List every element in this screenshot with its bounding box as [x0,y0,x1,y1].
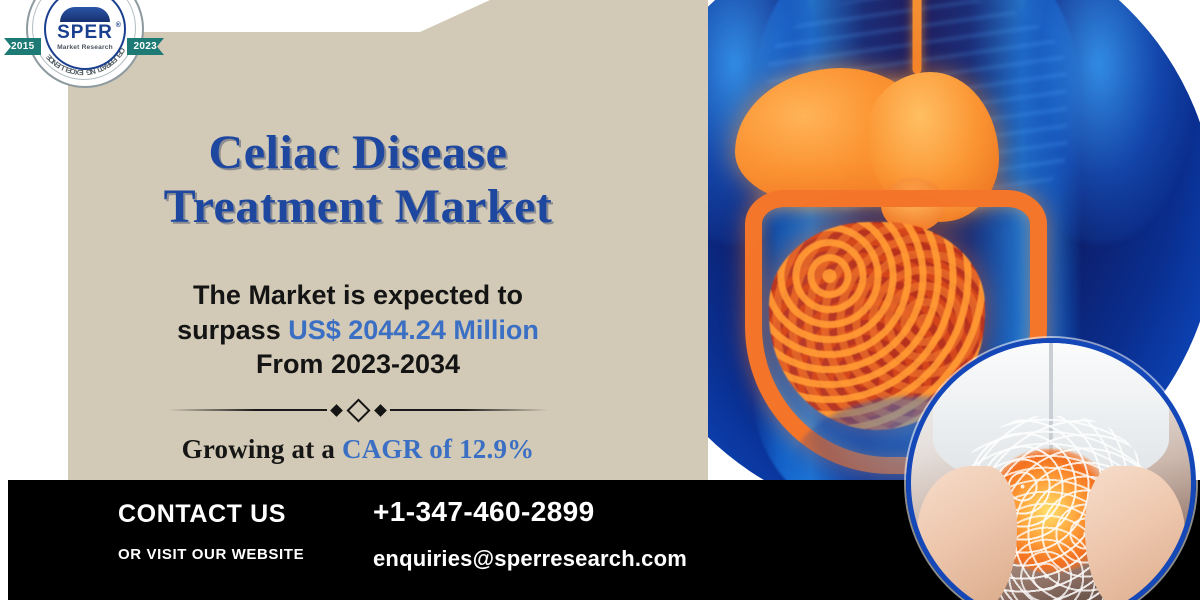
contact-email[interactable]: enquiries@sperresearch.com [373,548,687,570]
subtitle-line-1: The Market is expected to [68,278,648,313]
logo-brand-name: SPER [57,22,113,43]
logo-wordmark: SPER® [57,23,113,42]
registered-mark-icon: ® [116,22,122,29]
abdomen-pain-image [906,338,1196,600]
cagr-prefix: Growing at a [182,434,342,464]
sper-logo: EIGHTH ANNIVERSARY CELEBRATING EXCELLENC… [8,0,158,90]
diamond-outline-icon [346,398,370,422]
page-title: Celiac Disease Treatment Market [68,126,648,234]
logo-tagline: Market Research [57,44,113,51]
infographic-banner: EIGHTH ANNIVERSARY CELEBRATING EXCELLENC… [0,0,1200,600]
diamond-icon [330,404,343,417]
divider-line-left [168,409,327,411]
content-panel [68,0,708,498]
logo-year-from: 2015 [4,38,41,55]
divider-line-right [390,409,549,411]
visit-website-label: OR VISIT OUR WEBSITE [118,547,304,562]
market-value-highlight: US$ 2044.24 Million [288,315,539,345]
cagr-highlight: CAGR of 12.9% [342,434,534,464]
contact-details: +1-347-460-2899 enquiries@sperresearch.c… [373,498,687,570]
logo-arc-graphic [60,7,110,22]
subtitle-surpass-label: surpass [177,315,288,345]
subtitle-line-2: surpass US$ 2044.24 Million [68,313,648,348]
hand-left-shape [917,466,1018,600]
contact-us-label: CONTACT US [118,502,304,527]
market-value-statement: The Market is expected to surpass US$ 20… [68,278,648,382]
hand-right-shape [1085,466,1186,600]
title-line-1: Celiac Disease [68,126,648,180]
title-line-2: Treatment Market [68,180,648,234]
cagr-statement: Growing at a CAGR of 12.9% [68,434,648,465]
diamond-icon [374,404,387,417]
contact-phone[interactable]: +1-347-460-2899 [373,498,687,526]
ornamental-divider [168,398,548,422]
esophagus-shape [913,0,922,74]
contact-labels: CONTACT US OR VISIT OUR WEBSITE [118,502,304,562]
subtitle-line-3: From 2023-2034 [68,347,648,382]
